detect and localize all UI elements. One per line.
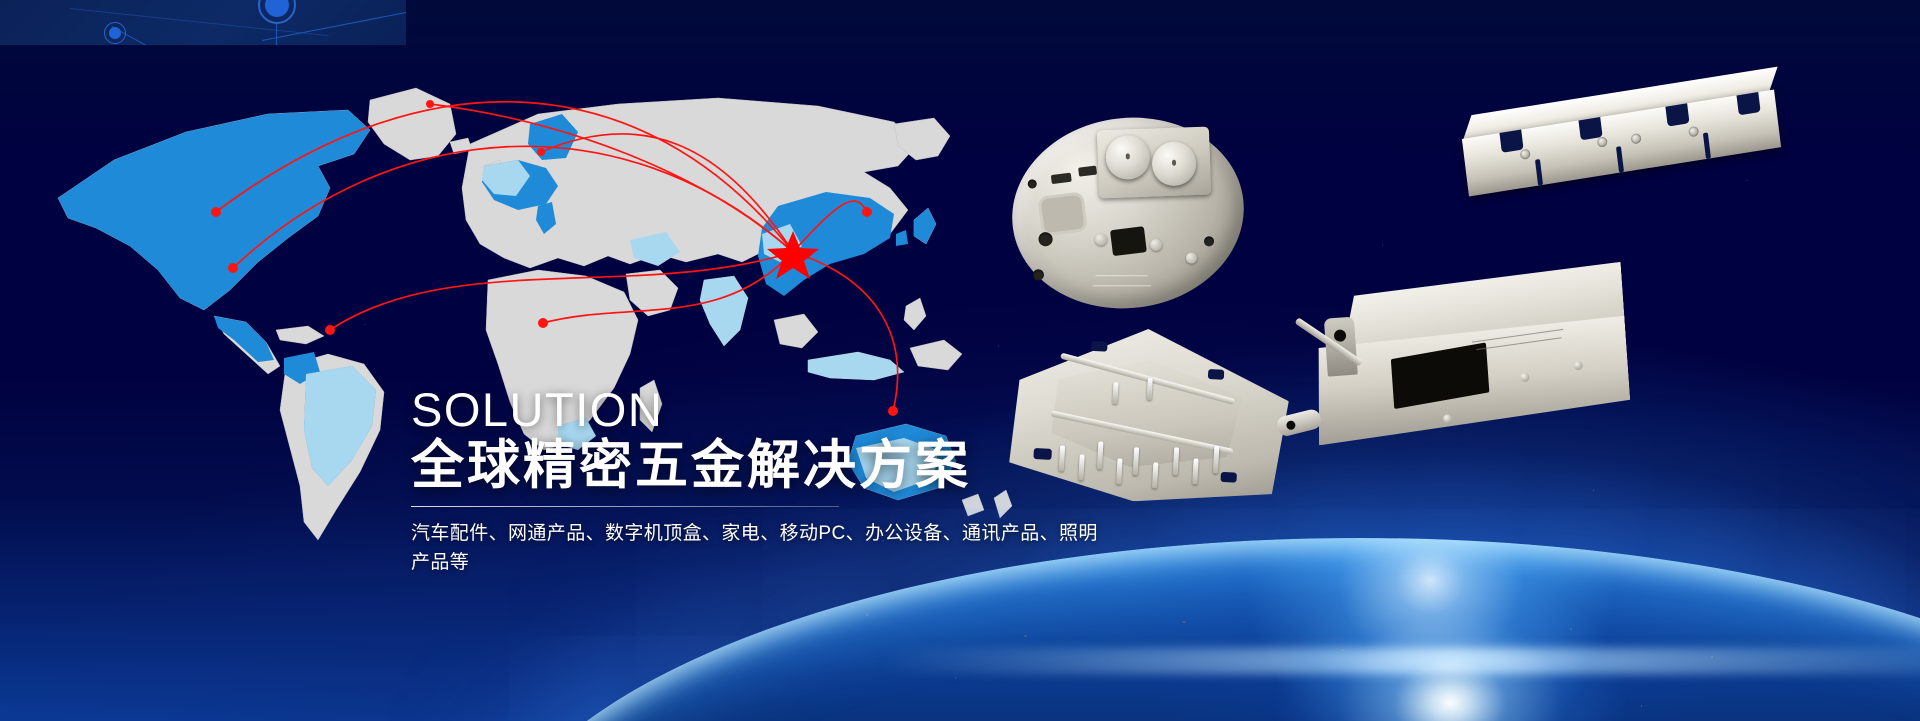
disc-hole-c [1032,269,1044,281]
disc-hole-b [1038,231,1054,247]
bracket-cutout-c [1665,103,1689,126]
disc-dual-reel-assembly [1097,127,1211,199]
bracket-cutout-a [1499,130,1523,153]
tray-notch-a [1091,341,1108,352]
disc-reel-left [1105,135,1151,181]
solution-hero-banner: SOLUTION 全球精密五金解决方案 汽车配件、网通产品、数字机顶盒、家电、移… [0,0,1920,721]
part-sheet-metal-chassis [1267,262,1634,486]
decor-node-stem [276,22,277,45]
decor-line-1 [112,26,217,45]
decor-node-icon-small [104,22,126,44]
hero-headline: 全球精密五金解决方案 [411,436,1111,495]
disc-boss-b [1149,238,1162,251]
disc-slot-a [1051,173,1072,184]
disc-slot-b [1078,166,1097,177]
hero-copy-block: SOLUTION 全球精密五金解决方案 汽车配件、网通产品、数字机顶盒、家电、移… [411,386,1111,577]
disc-boss-a [1094,233,1107,246]
disc-hole-d [1203,236,1214,247]
disc-hole-a [1027,179,1037,189]
hero-subcopy: 汽车配件、网通产品、数字机顶盒、家电、移动PC、办公设备、通讯产品、照明产品等 [411,520,1111,577]
disc-rounded-recess [1037,191,1088,236]
disc-scratch-a [1096,275,1148,276]
tray-notch-b [1208,369,1225,380]
disc-boss-c [1185,252,1197,264]
arm-foot-tab [1275,408,1323,438]
decor-node-icon-large [258,0,296,24]
hero-divider [411,506,839,507]
tray-notch-d [1220,472,1237,483]
sunrise-flare [1270,560,1630,721]
disc-black-window [1110,226,1147,256]
disc-reel-right [1151,141,1197,187]
tech-decor-panel [0,0,406,45]
hero-kicker: SOLUTION [411,386,1111,434]
bracket-cutout-d [1736,92,1760,115]
chassis-support-arm [1270,316,1374,446]
disc-scratch-b [1093,285,1151,286]
